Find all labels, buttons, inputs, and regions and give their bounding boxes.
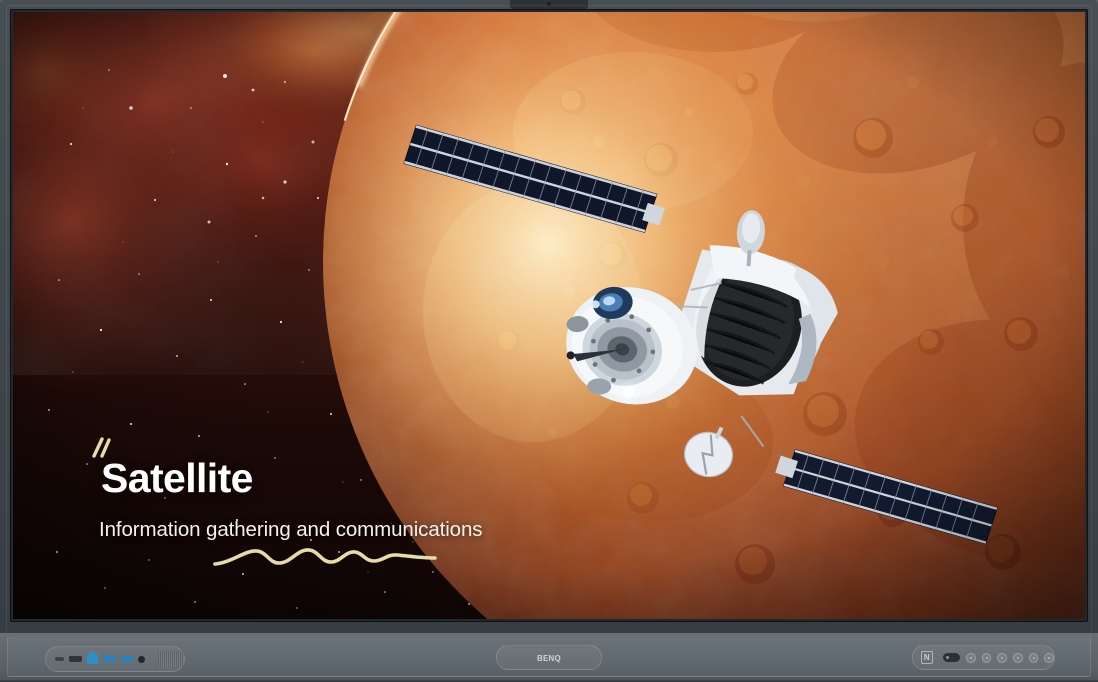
- control-button-1[interactable]: [966, 653, 976, 663]
- nfc-reader-icon[interactable]: N: [921, 651, 933, 664]
- usb-a-port-2[interactable]: [121, 656, 134, 662]
- control-button-6[interactable]: [1044, 653, 1054, 663]
- camera-lens-dot: [547, 2, 551, 6]
- control-button-5[interactable]: [1029, 653, 1039, 663]
- control-button-2[interactable]: [982, 653, 992, 663]
- camera-sensor-icon: [510, 0, 588, 9]
- headphone-jack[interactable]: [138, 656, 145, 663]
- nfc-label: N: [924, 654, 930, 662]
- speaker-grille: [158, 651, 184, 667]
- control-button-3[interactable]: [997, 653, 1007, 663]
- benq-interactive-display: Satellite Information gathering and comm…: [0, 0, 1098, 682]
- benq-logo: BenQ: [537, 652, 561, 664]
- slide-background-image: [13, 12, 1085, 619]
- usb-c-port[interactable]: [55, 657, 64, 661]
- io-port-cluster[interactable]: [45, 646, 185, 672]
- hdmi-port[interactable]: [69, 656, 82, 662]
- control-button-cluster[interactable]: N: [912, 645, 1055, 670]
- usb-a-port-1[interactable]: [103, 656, 116, 662]
- display-screen[interactable]: Satellite Information gathering and comm…: [13, 12, 1085, 619]
- brand-logo-plate: BenQ: [496, 645, 602, 670]
- power-button[interactable]: [943, 653, 960, 662]
- control-button-4[interactable]: [1013, 653, 1023, 663]
- lan-ethernet-port[interactable]: [87, 654, 98, 664]
